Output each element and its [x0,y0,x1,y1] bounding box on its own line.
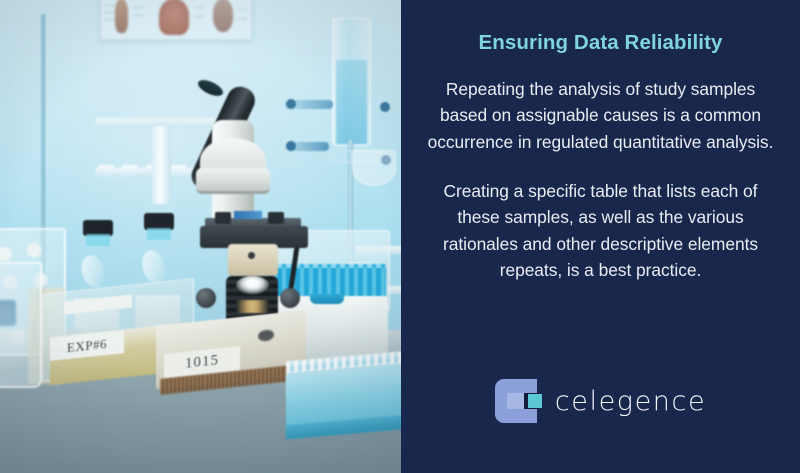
microscope-focus-knob-right [280,288,300,308]
bottle-neck [147,228,171,240]
content-panel: Ensuring Data Reliability Repeating the … [401,0,800,473]
bottle-highlight [78,252,108,289]
back-flask [352,150,396,186]
poster-figure-3 [213,0,233,32]
mark-top-right-square [524,379,537,393]
poster-figure-2 [159,0,189,35]
poster-label-line [237,9,247,10]
poster-label-line [133,7,143,8]
anatomy-poster [100,0,252,40]
mark-bottom-right-square [524,409,537,423]
microscope-specimen-slide [234,211,262,219]
clamp-knob [380,102,390,112]
poster-label-line [237,18,247,19]
back-pedestal [152,126,171,204]
microscope-stage-clip-left [215,212,231,224]
poster-label-line [194,7,204,8]
poster-label-line [133,15,143,16]
microscope-head-ring [196,168,270,194]
pipette-tip-box-latch [310,294,344,304]
slide-canvas: EXP#6 1015 Ensuring Da [0,0,800,473]
poster-label-line [105,5,114,6]
poster-label-line [194,16,204,17]
body-copy: Repeating the analysis of study samples … [423,76,779,284]
poster-label-line [105,12,114,13]
microscope-illuminator [228,244,278,276]
lab-photo: EXP#6 1015 [0,0,401,473]
page-title: Ensuring Data Reliability [479,31,723,56]
paragraph-2: Creating a specific table that lists eac… [423,178,779,284]
celegence-mark-icon [495,379,542,423]
microscope-lens [236,276,269,294]
illuminator-aperture [248,252,255,259]
clamp-knob [286,99,296,109]
clamp-knob [286,141,296,151]
microscope-lens-ring [236,300,269,313]
poster-figure-1 [115,0,128,33]
mark-inner-square [507,393,524,409]
celegence-wordmark: celegence [555,386,706,417]
mark-teal-square [528,394,542,408]
microscope-stage-clip-right [268,212,284,224]
bottle-neck [86,234,110,246]
brand-logo[interactable]: celegence [401,379,800,423]
microscope-focus-knob-left [196,288,216,308]
beaker-print [0,300,16,326]
paragraph-1: Repeating the analysis of study samples … [423,76,779,155]
poster-label-line [105,19,114,20]
cylinder-liquid [336,60,367,144]
